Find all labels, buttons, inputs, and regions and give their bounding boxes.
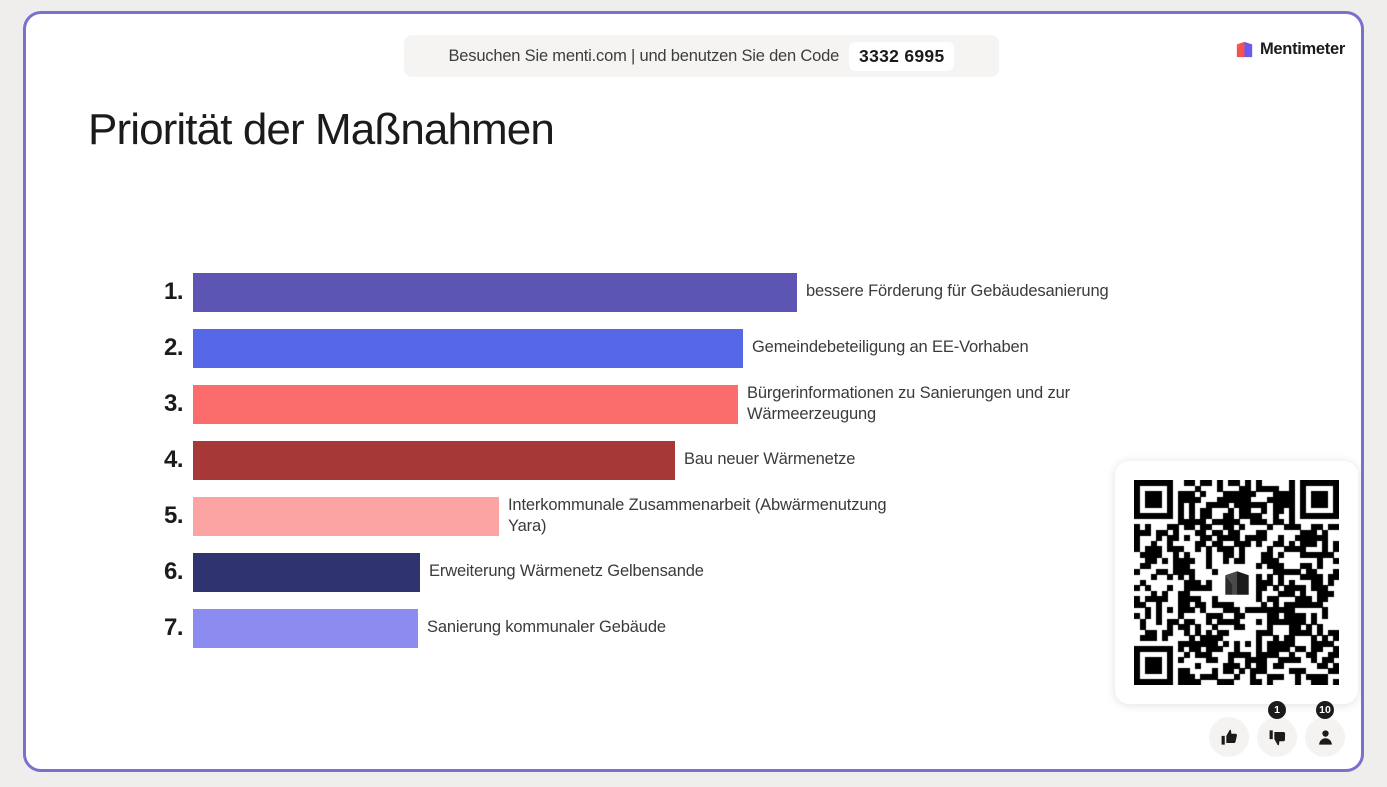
join-instruction-text: Besuchen Sie menti.com | und benutzen Si… bbox=[449, 47, 840, 66]
bar-label: Sanierung kommunaler Gebäude bbox=[418, 617, 666, 638]
bar-label: bessere Förderung für Gebäudesanierung bbox=[797, 281, 1109, 302]
bar-label: Gemeindebeteiligung an EE-Vorhaben bbox=[743, 337, 1029, 358]
bar bbox=[193, 609, 418, 648]
qr-code-card bbox=[1115, 461, 1358, 704]
rank-number: 4. bbox=[26, 446, 193, 474]
bar bbox=[193, 441, 675, 480]
bar-row: 1.bessere Förderung für Gebäudesanierung bbox=[26, 264, 1361, 320]
brand-name: Mentimeter bbox=[1260, 40, 1345, 59]
bar bbox=[193, 385, 738, 424]
rank-number: 7. bbox=[26, 614, 193, 642]
thumbs-down-button[interactable]: 1 bbox=[1257, 717, 1297, 757]
bar bbox=[193, 553, 420, 592]
join-code-value: 3332 6995 bbox=[849, 42, 954, 71]
bar-with-label: bessere Förderung für Gebäudesanierung bbox=[193, 273, 1361, 312]
thumbs-up-button[interactable] bbox=[1209, 717, 1249, 757]
rank-number: 6. bbox=[26, 558, 193, 586]
bar bbox=[193, 273, 797, 312]
thumbs-down-icon bbox=[1268, 728, 1287, 747]
bar-label: Erweiterung Wärmenetz Gelbensande bbox=[420, 561, 704, 582]
bar-with-label: Bürgerinformationen zu Sanierungen und z… bbox=[193, 383, 1361, 425]
qr-center-logo bbox=[1219, 565, 1255, 601]
join-code-banner: Besuchen Sie menti.com | und benutzen Si… bbox=[404, 35, 999, 77]
slide-frame: Besuchen Sie menti.com | und benutzen Si… bbox=[23, 11, 1364, 772]
rank-number: 1. bbox=[26, 278, 193, 306]
bar bbox=[193, 497, 499, 536]
person-icon bbox=[1316, 728, 1335, 747]
rank-number: 2. bbox=[26, 334, 193, 362]
reaction-count-badge: 1 bbox=[1268, 701, 1286, 719]
bar-with-label: Gemeindebeteiligung an EE-Vorhaben bbox=[193, 329, 1361, 368]
mentimeter-logo: Mentimeter bbox=[1236, 40, 1345, 59]
rank-number: 5. bbox=[26, 502, 193, 530]
mentimeter-m-icon bbox=[1224, 570, 1250, 596]
rank-number: 3. bbox=[26, 390, 193, 418]
thumbs-up-icon bbox=[1220, 728, 1239, 747]
reaction-bar[interactable]: 110 bbox=[1209, 717, 1345, 757]
person-button[interactable]: 10 bbox=[1305, 717, 1345, 757]
bar-row: 3.Bürgerinformationen zu Sanierungen und… bbox=[26, 376, 1361, 432]
bar-label: Interkommunale Zusammenarbeit (Abwärmenu… bbox=[499, 495, 928, 537]
reaction-count-badge: 10 bbox=[1316, 701, 1334, 719]
bar-label: Bürgerinformationen zu Sanierungen und z… bbox=[738, 383, 1167, 425]
bar-label: Bau neuer Wärmenetze bbox=[675, 449, 855, 470]
bar-row: 2.Gemeindebeteiligung an EE-Vorhaben bbox=[26, 320, 1361, 376]
page-title: Priorität der Maßnahmen bbox=[88, 105, 554, 156]
mentimeter-m-icon bbox=[1236, 41, 1253, 58]
qr-code-icon bbox=[1134, 480, 1339, 685]
bar bbox=[193, 329, 743, 368]
